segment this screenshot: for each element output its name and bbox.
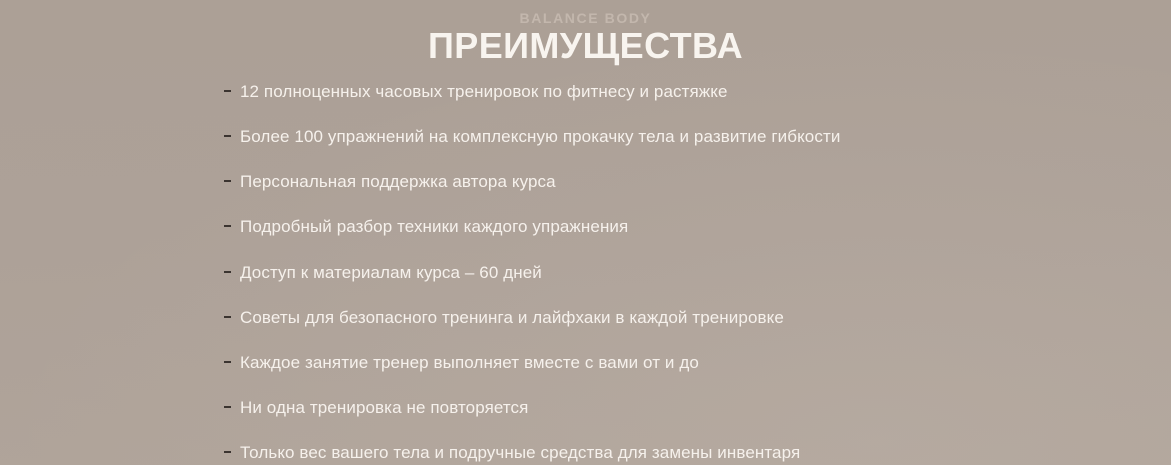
list-item-label: 12 полноценных часовых тренировок по фит… <box>240 82 728 101</box>
slide-header: BALANCE BODY ПРЕИМУЩЕСТВА <box>0 0 1171 66</box>
list-item: Только вес вашего тела и подручные средс… <box>224 441 884 465</box>
dash-marker-icon <box>224 135 231 137</box>
dash-marker-icon <box>224 225 231 227</box>
list-item-label: Подробный разбор техники каждого упражне… <box>240 217 628 236</box>
benefits-list: 12 полноценных часовых тренировок по фит… <box>224 80 884 465</box>
list-item: Советы для безопасного тренинга и лайфха… <box>224 306 884 330</box>
list-item-label: Ни одна тренировка не повторяется <box>240 398 528 417</box>
dash-marker-icon <box>224 90 231 92</box>
list-item: Доступ к материалам курса – 60 дней <box>224 261 884 285</box>
dash-marker-icon <box>224 316 231 318</box>
dash-marker-icon <box>224 361 231 363</box>
dash-marker-icon <box>224 180 231 182</box>
list-item-label: Более 100 упражнений на комплексную прок… <box>240 127 840 146</box>
list-item-label: Доступ к материалам курса – 60 дней <box>240 263 542 282</box>
list-item-label: Каждое занятие тренер выполняет вместе с… <box>240 353 699 372</box>
list-item: Персональная поддержка автора курса <box>224 170 884 194</box>
list-item: Подробный разбор техники каждого упражне… <box>224 215 884 239</box>
dash-marker-icon <box>224 271 231 273</box>
brand-kicker: BALANCE BODY <box>0 11 1171 25</box>
list-item: Более 100 упражнений на комплексную прок… <box>224 125 884 149</box>
list-item-label: Персональная поддержка автора курса <box>240 172 556 191</box>
benefits-slide: BALANCE BODY ПРЕИМУЩЕСТВА 12 полноценных… <box>0 0 1171 465</box>
list-item: 12 полноценных часовых тренировок по фит… <box>224 80 884 104</box>
list-item: Ни одна тренировка не повторяется <box>224 396 884 420</box>
list-item-label: Только вес вашего тела и подручные средс… <box>240 443 800 462</box>
dash-marker-icon <box>224 406 231 408</box>
page-title: ПРЕИМУЩЕСТВА <box>0 27 1171 66</box>
list-item: Каждое занятие тренер выполняет вместе с… <box>224 351 884 375</box>
list-item-label: Советы для безопасного тренинга и лайфха… <box>240 308 784 327</box>
dash-marker-icon <box>224 451 231 453</box>
